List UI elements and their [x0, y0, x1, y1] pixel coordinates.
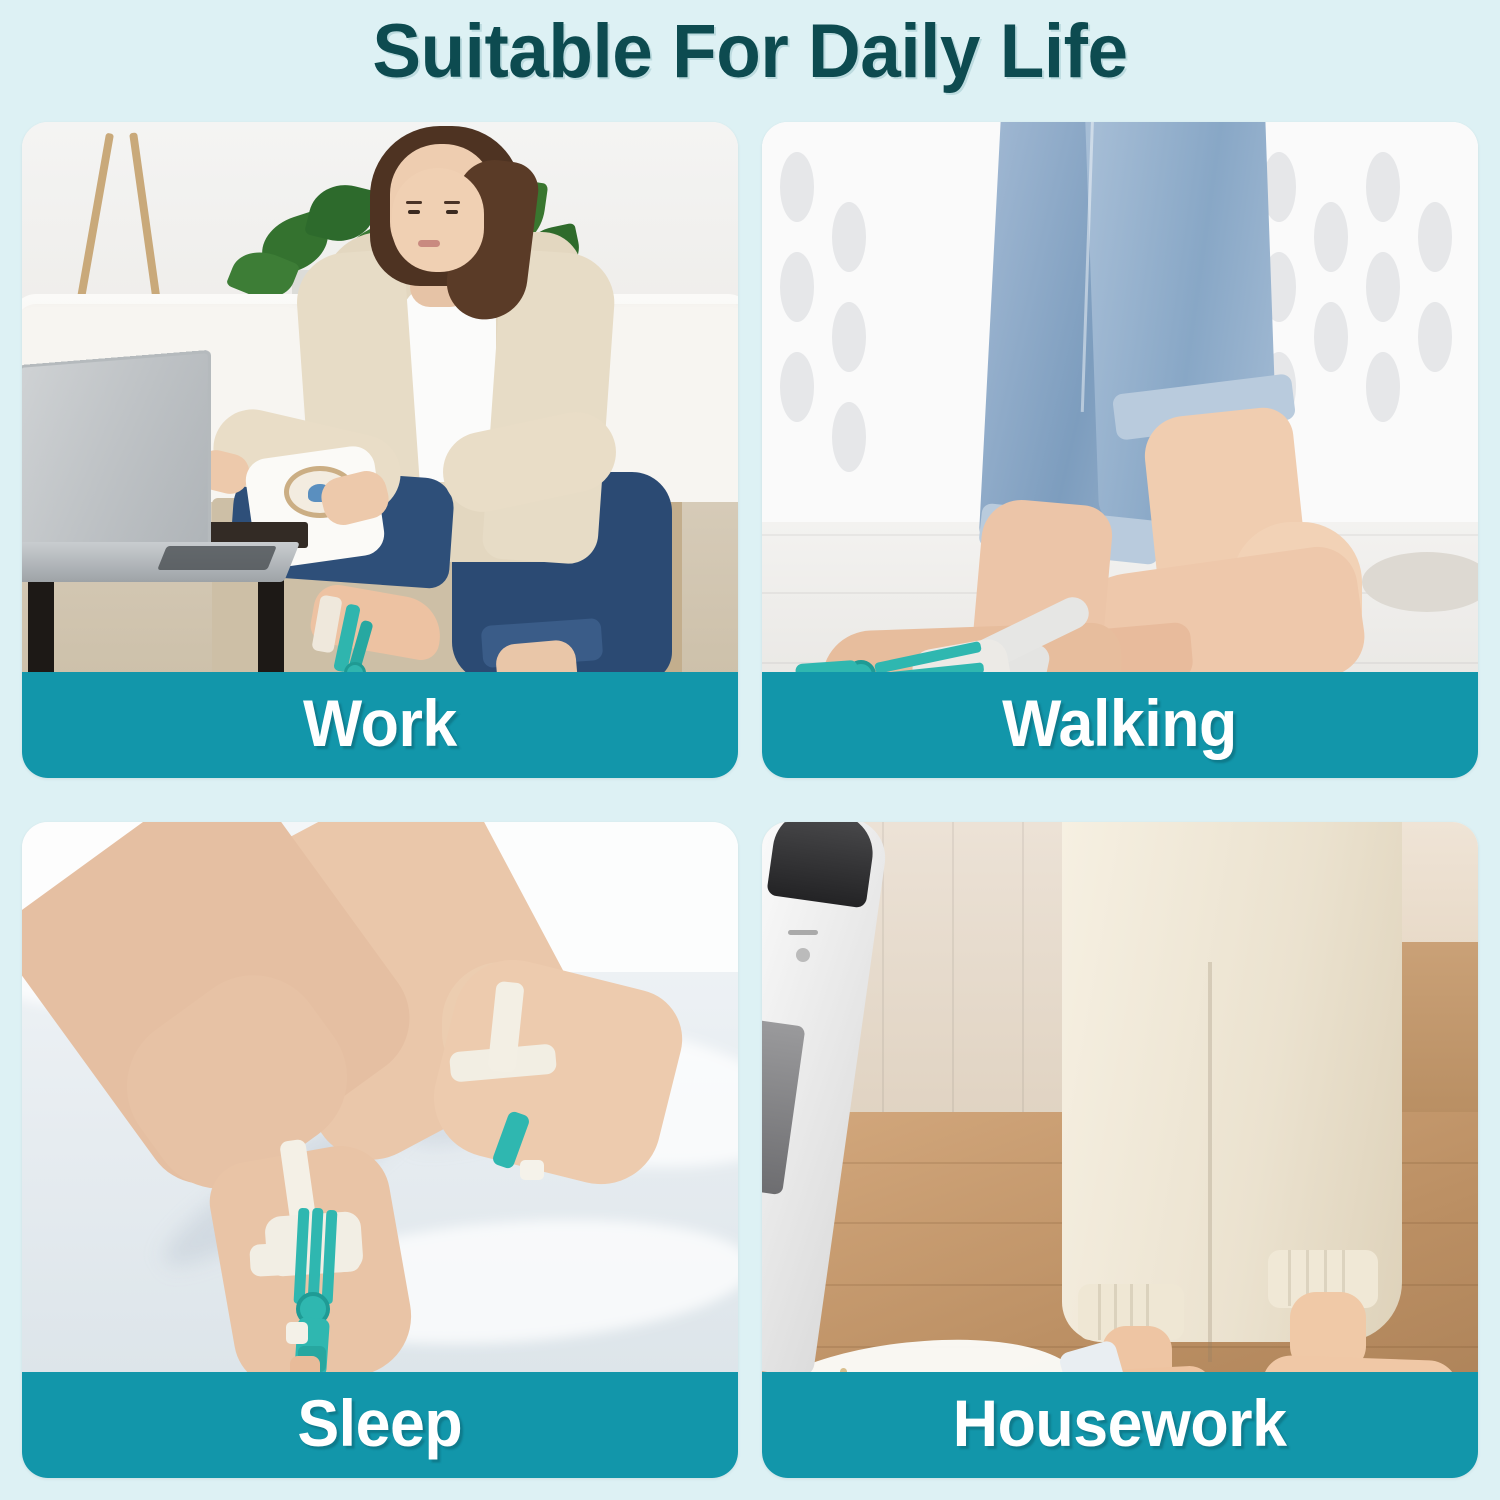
page-title: Suitable For Daily Life	[30, 8, 1470, 95]
panel-housework[interactable]: Housework	[762, 822, 1478, 1478]
caption-label-sleep: Sleep	[298, 1390, 463, 1460]
caption-bar-work: Work	[22, 672, 738, 778]
panel-work[interactable]: Work	[22, 122, 738, 778]
caption-bar-sleep: Sleep	[22, 1372, 738, 1478]
photo-work	[22, 122, 738, 672]
panel-sleep[interactable]: Sleep	[22, 822, 738, 1478]
photo-walking	[762, 122, 1478, 672]
panel-grid: Work	[22, 122, 1478, 1478]
caption-label-work: Work	[303, 690, 457, 760]
caption-bar-housework: Housework	[762, 1372, 1478, 1478]
photo-housework	[762, 822, 1478, 1372]
panel-walking[interactable]: Walking	[762, 122, 1478, 778]
caption-bar-walking: Walking	[762, 672, 1478, 778]
caption-label-housework: Housework	[953, 1390, 1287, 1460]
caption-label-walking: Walking	[1003, 690, 1238, 760]
photo-sleep	[22, 822, 738, 1372]
